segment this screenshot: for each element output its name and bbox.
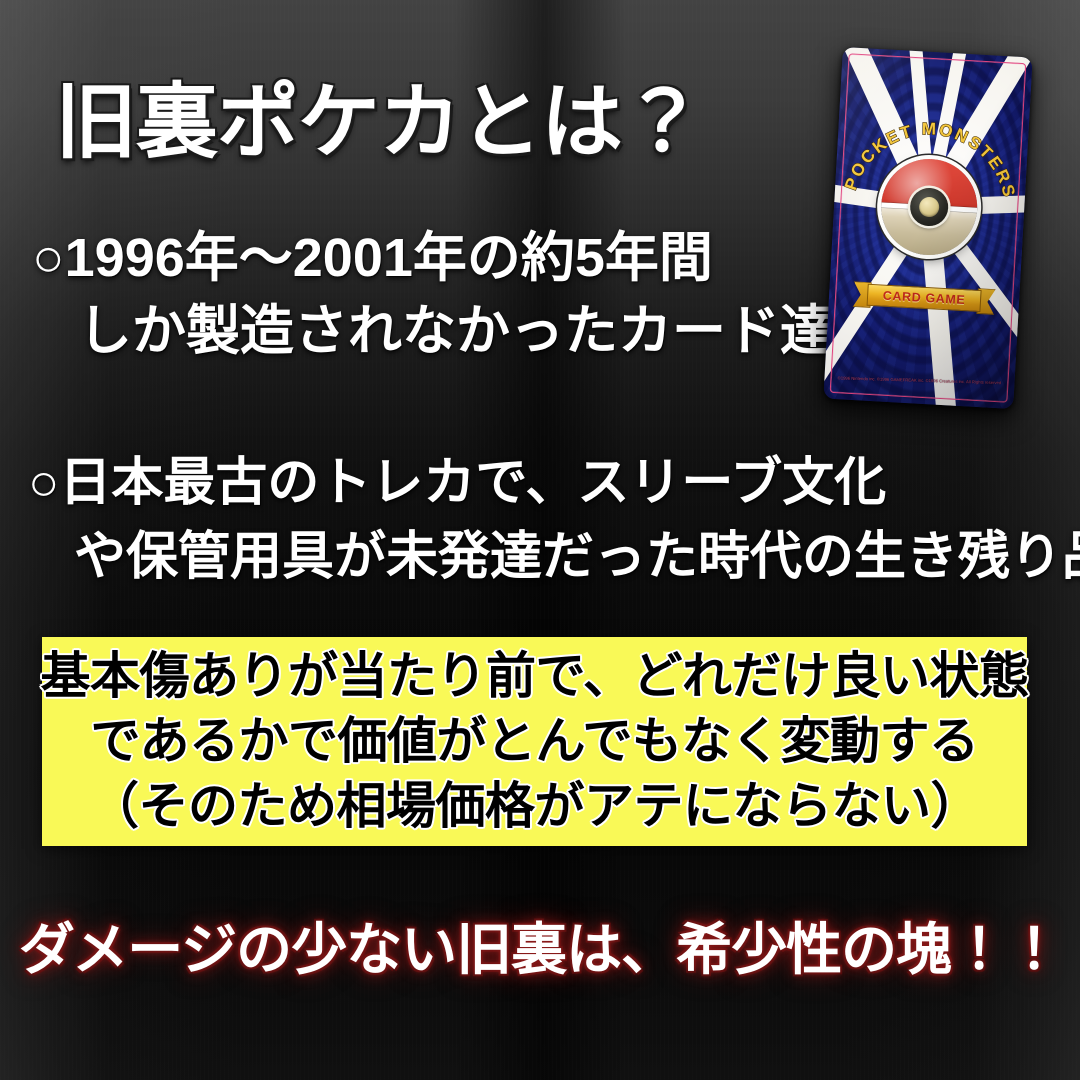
bullet-1-line-2: しか製造されなかったカード達 bbox=[32, 295, 834, 368]
bullet-item-2: ○日本最古のトレカで、スリーブ文化 や保管用具が未発達だった時代の生き残り品 bbox=[28, 447, 1080, 595]
pokemon-card-back-image: POCKET MONSTERS CARD GAME ©1996 Nintendo… bbox=[823, 47, 1032, 409]
bullet-item-1: ○1996年〜2001年の約5年間 しか製造されなかったカード達 bbox=[32, 222, 834, 369]
highlight-line-2: であるかで価値がとんでもなく変動する bbox=[91, 709, 979, 774]
infographic-canvas: 旧裏ポケカとは？ ○1996年〜2001年の約5年間 しか製造されなかったカード… bbox=[0, 0, 1080, 1080]
bullet-2-line-1-text: 日本最古のトレカで、スリーブ文化 bbox=[59, 454, 886, 512]
card-inner-border bbox=[830, 53, 1027, 402]
bullet-1-line-1-text: 1996年〜2001年の約5年間 bbox=[65, 228, 713, 288]
bullet-2-line-2: や保管用具が未発達だった時代の生き残り品 bbox=[28, 521, 1080, 595]
bullet-circle-icon: ○ bbox=[32, 228, 65, 288]
highlight-line-3: （そのため相場価格がアテにならない） bbox=[89, 774, 980, 839]
highlight-box: 基本傷ありが当たり前で、どれだけ良い状態 であるかで価値がとんでもなく変動する … bbox=[42, 637, 1027, 846]
bullet-1-line-1: ○1996年〜2001年の約5年間 bbox=[32, 222, 834, 295]
card-face: POCKET MONSTERS CARD GAME ©1996 Nintendo… bbox=[823, 47, 1032, 409]
bullet-circle-icon: ○ bbox=[28, 454, 59, 512]
bullet-2-line-1: ○日本最古のトレカで、スリーブ文化 bbox=[28, 447, 1080, 521]
footer-claim-text: ダメージの少ない旧裏は、希少性の塊！！ bbox=[0, 905, 1080, 986]
highlight-line-1: 基本傷ありが当たり前で、どれだけ良い状態 bbox=[41, 644, 1029, 709]
page-title: 旧裏ポケカとは？ bbox=[55, 55, 703, 174]
